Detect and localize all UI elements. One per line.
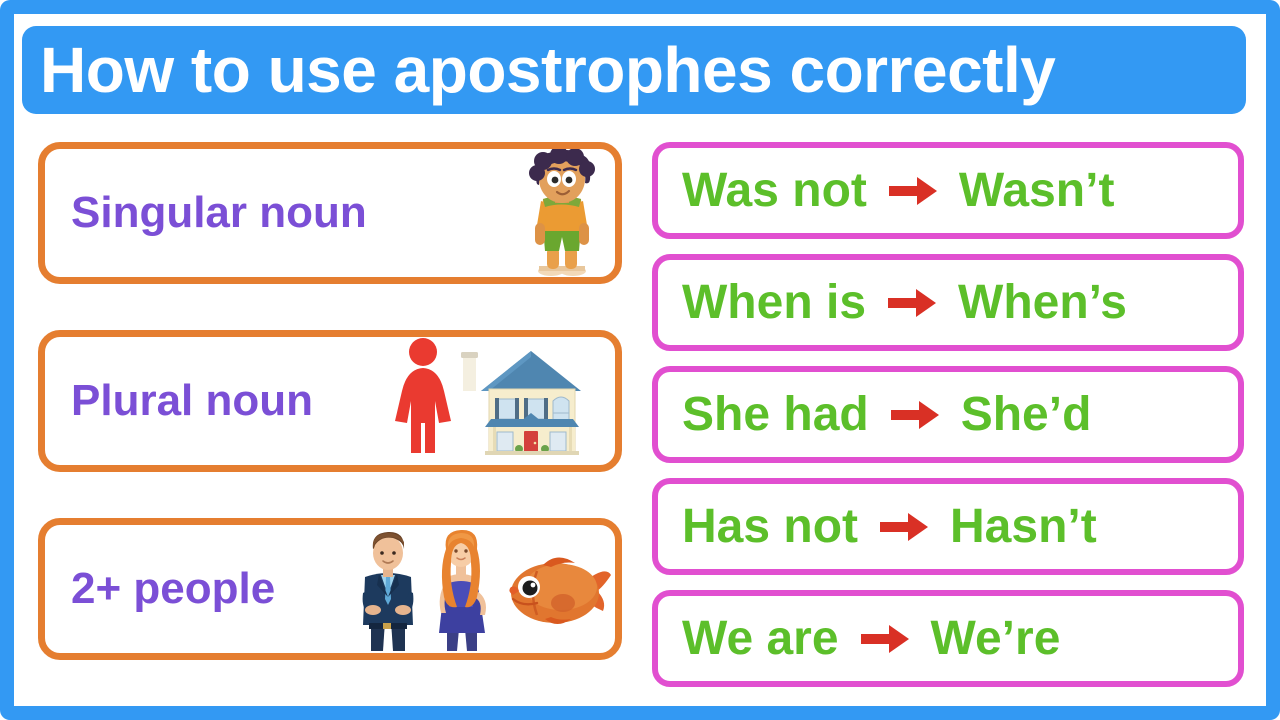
contraction-short-form: Hasn’t [950, 503, 1097, 551]
noun-card-people[interactable]: 2+ people [38, 518, 622, 660]
contraction-content: She had She’d [682, 391, 1091, 439]
contraction-row-we-are[interactable]: We are We’re [652, 590, 1244, 687]
noun-card-singular[interactable]: Singular noun [38, 142, 622, 284]
right-arrow-icon [887, 174, 939, 208]
contraction-content: When is When’s [682, 279, 1127, 327]
right-arrow-icon [878, 510, 930, 544]
contraction-short-form: When’s [958, 279, 1127, 327]
contraction-full-form: Was not [682, 167, 867, 215]
contraction-short-form: She’d [961, 391, 1092, 439]
right-arrow-icon [889, 398, 941, 432]
contraction-full-form: When is [682, 279, 866, 327]
contractions-column: Was not Wasn’t When is When’s [652, 142, 1244, 690]
page-title: How to use apostrophes correctly [40, 38, 1055, 102]
contraction-short-form: We’re [931, 615, 1061, 663]
woman-and-house-illustration [385, 337, 615, 465]
noun-type-column: Singular noun [38, 142, 622, 672]
right-arrow-icon [859, 622, 911, 656]
right-arrow-icon [886, 286, 938, 320]
contraction-content: We are We’re [682, 615, 1060, 663]
contraction-row-has-not[interactable]: Has not Hasn’t [652, 478, 1244, 575]
contraction-row-was-not[interactable]: Was not Wasn’t [652, 142, 1244, 239]
boy-illustration [507, 149, 615, 277]
contraction-full-form: Has not [682, 503, 858, 551]
title-banner: How to use apostrophes correctly [22, 26, 1246, 114]
noun-card-label: Singular noun [45, 191, 367, 235]
contraction-row-when-is[interactable]: When is When’s [652, 254, 1244, 351]
man-woman-and-fish-illustration [347, 525, 615, 653]
noun-card-plural[interactable]: Plural noun [38, 330, 622, 472]
noun-card-label: Plural noun [45, 379, 313, 423]
contraction-full-form: We are [682, 615, 839, 663]
contraction-row-she-had[interactable]: She had She’d [652, 366, 1244, 463]
contraction-content: Has not Hasn’t [682, 503, 1097, 551]
contraction-short-form: Wasn’t [959, 167, 1115, 215]
contraction-content: Was not Wasn’t [682, 167, 1114, 215]
contraction-full-form: She had [682, 391, 869, 439]
noun-card-label: 2+ people [45, 567, 275, 611]
infographic-page: How to use apostrophes correctly Singula… [0, 0, 1280, 720]
